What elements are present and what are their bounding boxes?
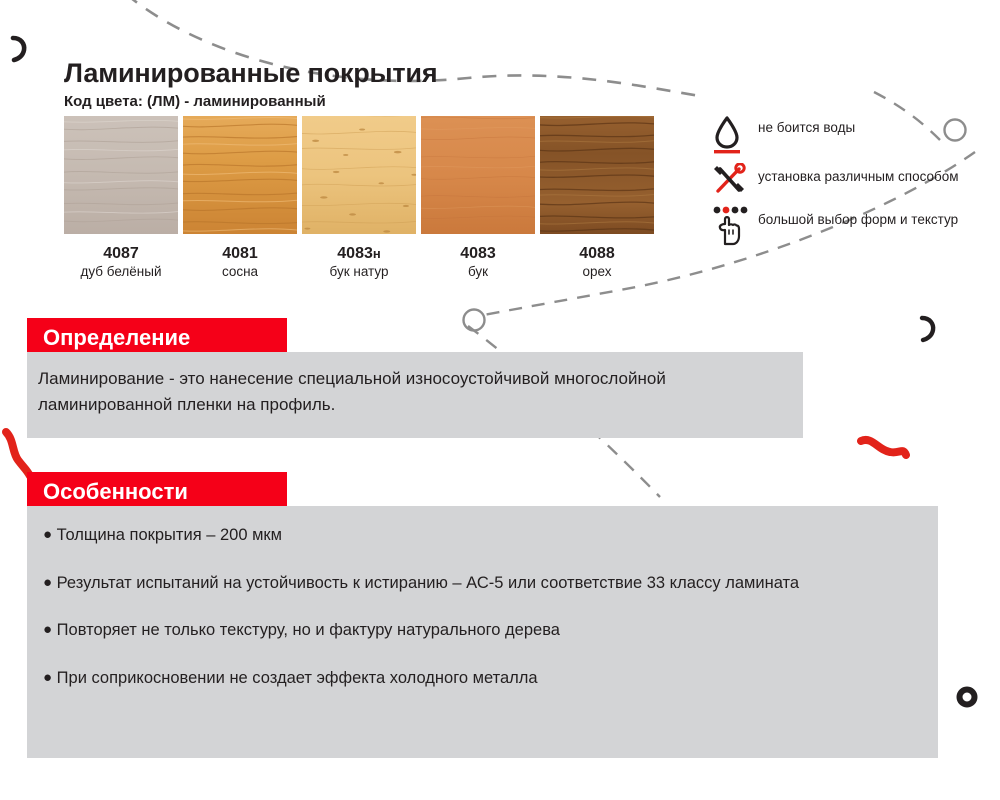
comma-mark-right: [922, 318, 933, 340]
definition-text: Ламинирование - это нанесение специально…: [38, 366, 778, 419]
feature-row: установка различным способом: [712, 163, 962, 197]
page-subtitle: Код цвета: (ЛМ) - ламинированный: [64, 93, 326, 110]
features-heading: Особенности: [27, 472, 287, 506]
swatch-code: 4087: [64, 245, 178, 263]
swatch-code: 4088: [540, 245, 654, 263]
bullet-item: ● Результат испытаний на устойчивость к …: [43, 570, 933, 597]
bullet-text: Результат испытаний на устойчивость к ис…: [57, 574, 799, 592]
swatch-code: 4083: [421, 245, 535, 263]
swatch-code: 4081: [183, 245, 297, 263]
bullet-text: Толщина покрытия – 200 мкм: [57, 526, 282, 544]
comma-mark-top-left: [13, 38, 24, 60]
swatch-code: 4083н: [302, 245, 416, 263]
swatch-item[interactable]: 4083 бук: [421, 116, 535, 281]
feature-row: большой выбор форм и текстур: [712, 206, 962, 246]
swatch-name: бук: [421, 264, 535, 280]
poster-page: Ламинированные покрытия Код цвета: (ЛМ) …: [0, 0, 1000, 800]
bullet-text: Повторяет не только текстуру, но и факту…: [57, 621, 560, 639]
swatch-item[interactable]: 4088 орех: [540, 116, 654, 281]
features-panel: ● Толщина покрытия – 200 мкм ● Результат…: [27, 506, 938, 758]
features-bullet-list: ● Толщина покрытия – 200 мкм ● Результат…: [43, 522, 933, 692]
color-swatch-row: 4087 дуб белёный: [64, 116, 654, 281]
bullet-glyph: ●: [43, 669, 52, 686]
bullet-glyph: ●: [43, 574, 52, 591]
dashed-node-circle-middle: [464, 310, 485, 331]
swatch-name: дуб белёный: [64, 264, 178, 280]
swatch-name: орех: [540, 264, 654, 280]
feature-row: не боится воды: [712, 114, 962, 154]
wood-swatch[interactable]: [540, 116, 654, 234]
wood-swatch[interactable]: [302, 116, 416, 234]
swatch-item[interactable]: 4081 сосна: [183, 116, 297, 281]
bullet-item: ● Толщина покрытия – 200 мкм: [43, 522, 933, 549]
bullet-item: ● Повторяет не только текстуру, но и фак…: [43, 617, 933, 644]
bullet-item: ● При соприкосновении не создает эффекта…: [43, 665, 933, 692]
swatch-name: сосна: [183, 264, 297, 280]
feature-icon-list: не боится воды установка различным спосо…: [712, 114, 962, 255]
definition-heading: Определение: [27, 318, 287, 352]
red-squiggle-left: [6, 432, 30, 476]
bullet-glyph: ●: [43, 526, 52, 543]
swatch-item[interactable]: 4083н бук натур: [302, 116, 416, 281]
swatch-item[interactable]: 4087 дуб белёный: [64, 116, 178, 281]
page-title: Ламинированные покрытия: [64, 58, 437, 89]
water-drop-icon: [712, 114, 758, 154]
wood-swatch[interactable]: [183, 116, 297, 234]
feature-label: большой выбор форм и текстур: [758, 206, 958, 227]
ring-mark-bottom-right: [960, 690, 975, 705]
wood-swatch[interactable]: [421, 116, 535, 234]
swatch-name: бук натур: [302, 264, 416, 280]
hand-touch-icon: [712, 206, 758, 246]
feature-label: установка различным способом: [758, 163, 959, 184]
tools-cross-icon: [712, 163, 758, 197]
red-squiggle-right: [861, 440, 906, 455]
feature-label: не боится воды: [758, 114, 855, 135]
bullet-glyph: ●: [43, 621, 52, 638]
bullet-text: При соприкосновении не создает эффекта х…: [57, 669, 538, 687]
wood-swatch[interactable]: [64, 116, 178, 234]
definition-panel: Ламинирование - это нанесение специально…: [27, 352, 803, 438]
